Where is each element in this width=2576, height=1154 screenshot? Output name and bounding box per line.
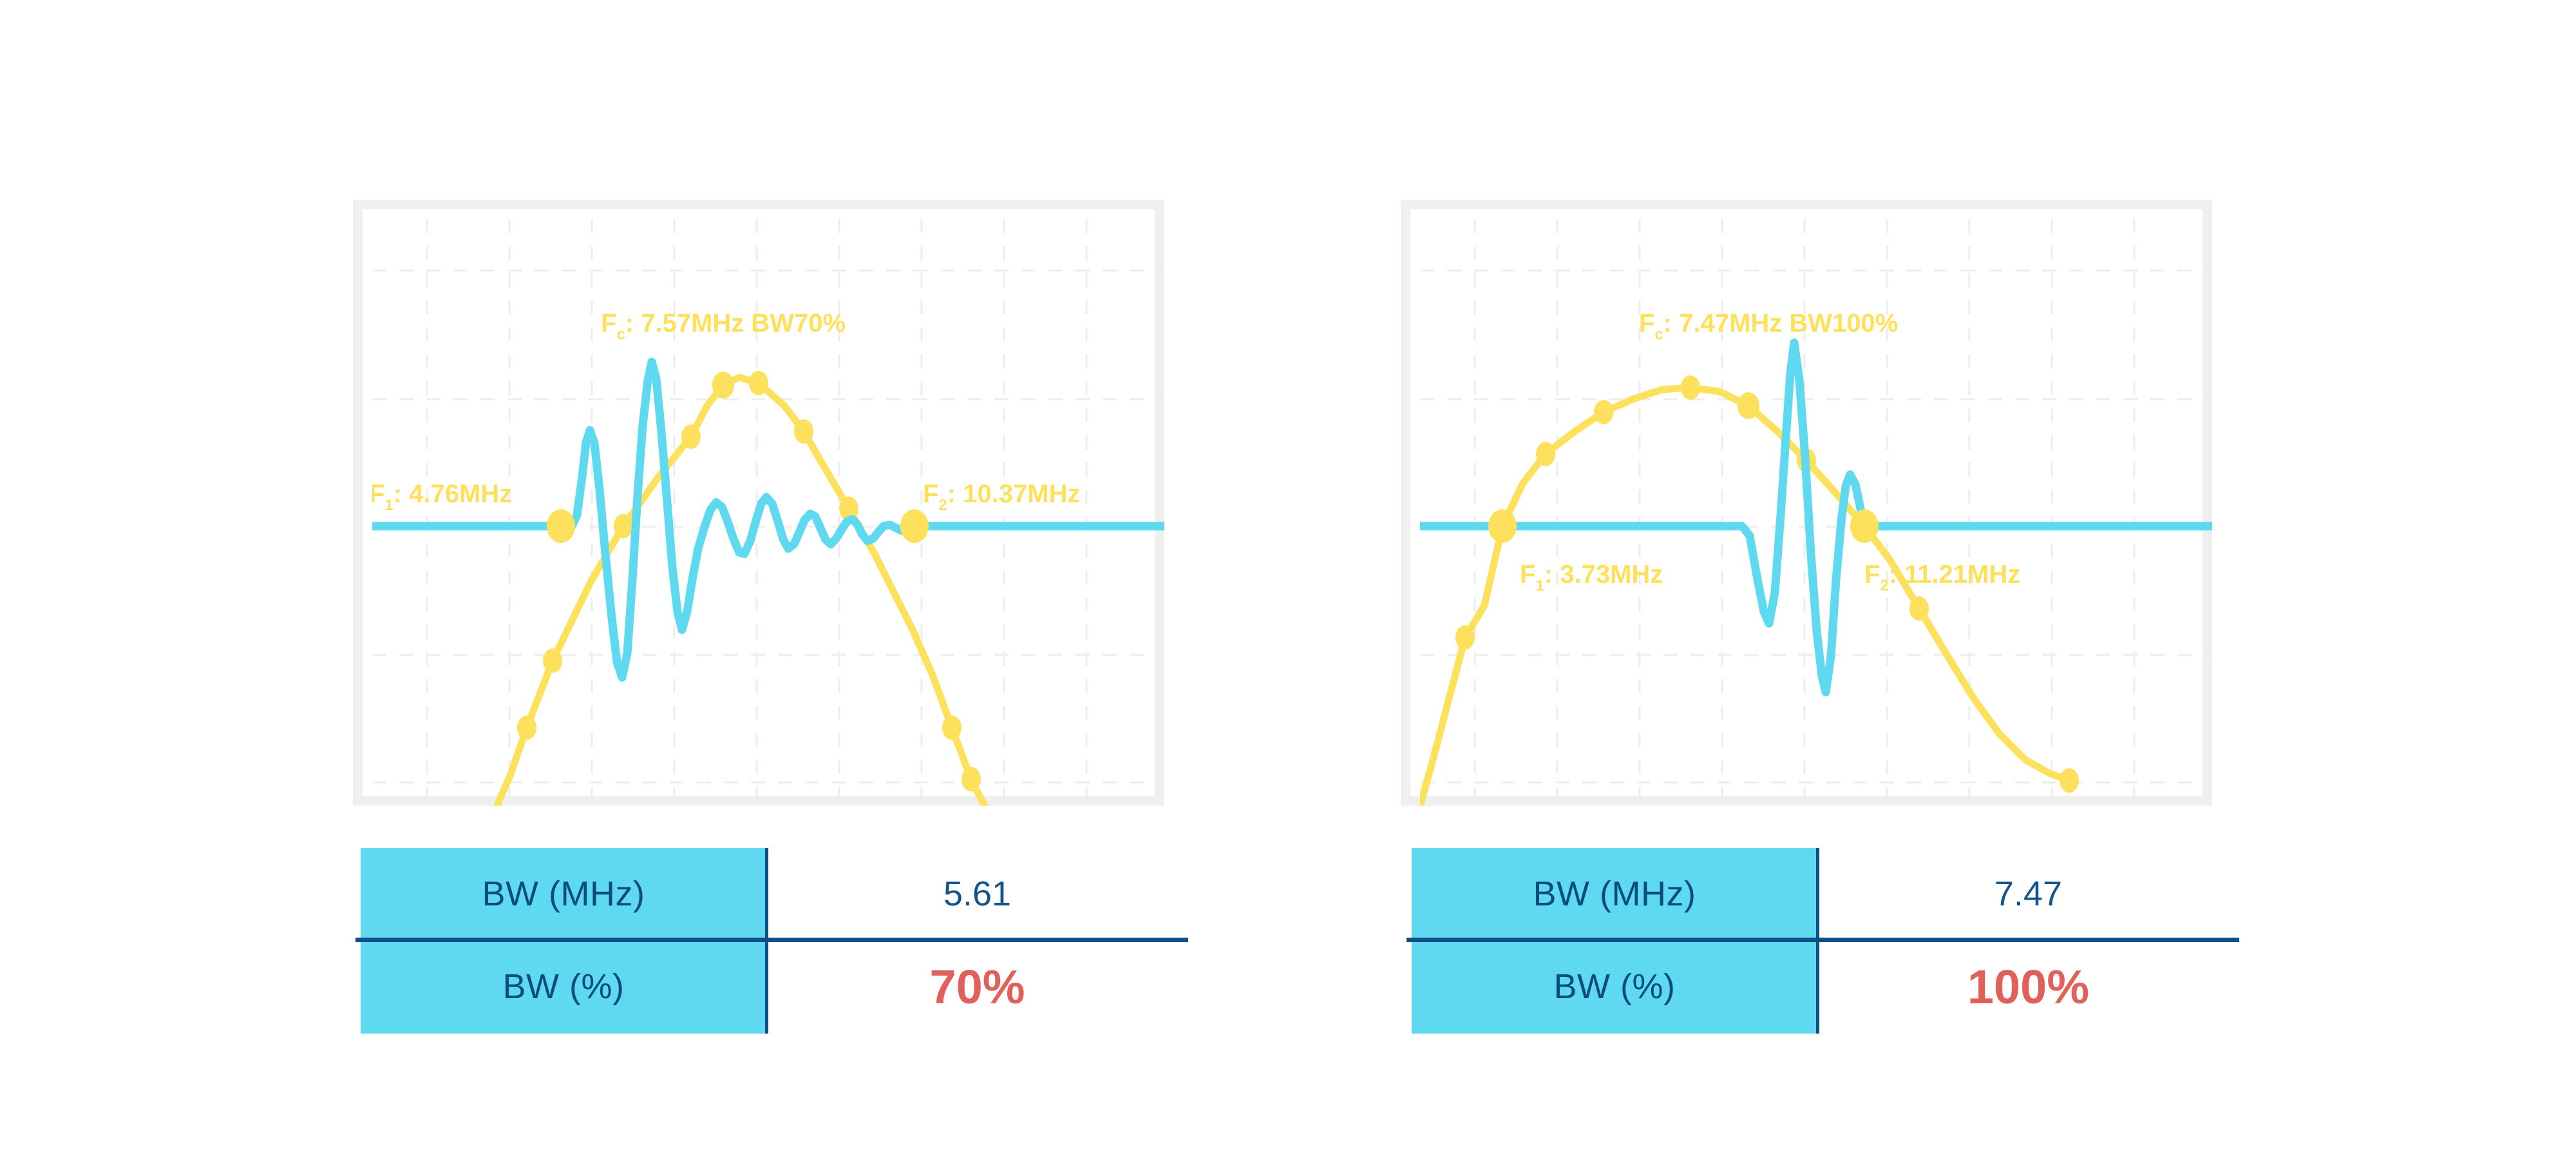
right-pulse-waveform <box>1420 343 2212 692</box>
left-fc-prefix: F <box>601 309 616 337</box>
right-row1-value: 100% <box>1817 940 2239 1034</box>
right-f1-prefix: F <box>1520 560 1535 589</box>
left-row0-label-text: BW (MHz) <box>482 874 645 914</box>
right-row1-value-text: 100% <box>1967 960 2089 1014</box>
right-row0-label: BW (MHz) <box>1412 848 1817 940</box>
left-pulse-waveform <box>372 362 1164 677</box>
right-f1-marker <box>1488 509 1517 543</box>
left-row0-value: 5.61 <box>766 848 1188 940</box>
right-f2-rest: : 11.21MHz <box>1889 560 2021 589</box>
right-f2-annotation: F2: 11.21MHz <box>1864 560 2020 594</box>
left-f1-rest: : 4.76MHz <box>393 480 513 508</box>
right-f2-marker <box>1850 509 1879 543</box>
right-spectrum-curve <box>1420 388 2069 806</box>
table-row: BW (%) 70% <box>361 940 1188 1034</box>
right-table-column-divider <box>1816 848 1819 1034</box>
left-row1-label-text: BW (%) <box>503 967 625 1007</box>
left-f1-annotation: F1: 4.76MHz <box>372 480 512 514</box>
right-row0-label-text: BW (MHz) <box>1533 874 1696 914</box>
left-fc-rest: : 7.57MHz BW70% <box>625 309 846 337</box>
left-f1-prefix: F <box>372 480 384 508</box>
right-table-divider <box>1406 938 2239 942</box>
left-table-column-divider <box>765 848 768 1034</box>
left-row0-value-text: 5.61 <box>943 874 1011 914</box>
left-spectrum-curve <box>495 377 990 806</box>
right-grid <box>1420 219 2212 806</box>
left-bw-table: BW (MHz) 5.61 BW (%) 70% <box>361 848 1188 1034</box>
table-row: BW (%) 100% <box>1412 940 2239 1034</box>
right-fc-annotation: Fc: 7.47MHz BW100% <box>1639 309 1898 343</box>
left-chart-frame: Fc: 7.57MHz BW70% F1: 4.76MHz F2: 10.37M… <box>353 200 1164 806</box>
left-fc-annotation: Fc: 7.57MHz BW70% <box>601 309 846 343</box>
right-row1-label-text: BW (%) <box>1554 967 1676 1007</box>
left-f1-sub: 1 <box>384 497 393 514</box>
right-bw-table: BW (MHz) 7.47 BW (%) 100% <box>1412 848 2239 1034</box>
right-chart-frame: Fc: 7.47MHz BW100% F1: 3.73MHz F2: 11.21… <box>1401 200 2212 806</box>
right-f1-rest: : 3.73MHz <box>1544 560 1663 589</box>
left-row1-label: BW (%) <box>361 940 766 1034</box>
right-f2-sub: 2 <box>1880 577 1888 594</box>
right-f1-annotation: F1: 3.73MHz <box>1520 560 1663 594</box>
right-f1-sub: 1 <box>1535 577 1544 594</box>
table-row: BW (MHz) 7.47 <box>1412 848 2239 940</box>
right-fc-rest: : 7.47MHz BW100% <box>1663 309 1899 337</box>
right-chart-plot: Fc: 7.47MHz BW100% F1: 3.73MHz F2: 11.21… <box>1420 219 2212 806</box>
left-f2-sub: 2 <box>938 497 947 514</box>
right-f2-prefix: F <box>1864 560 1880 589</box>
table-row: BW (MHz) 5.61 <box>361 848 1188 940</box>
right-fc-sub: c <box>1654 326 1663 343</box>
left-table-divider <box>355 938 1188 942</box>
left-f2-annotation: F2: 10.37MHz <box>923 480 1081 514</box>
left-row0-label: BW (MHz) <box>361 848 766 940</box>
right-row0-value-text: 7.47 <box>1994 874 2062 914</box>
left-row1-value-text: 70% <box>929 960 1025 1014</box>
right-row0-value: 7.47 <box>1817 848 2239 940</box>
left-f2-marker <box>900 509 929 543</box>
left-fc-sub: c <box>616 326 625 343</box>
left-f2-prefix: F <box>923 480 938 508</box>
left-chart-plot: Fc: 7.57MHz BW70% F1: 4.76MHz F2: 10.37M… <box>372 219 1164 806</box>
right-row1-label: BW (%) <box>1412 940 1817 1034</box>
right-fc-prefix: F <box>1639 309 1654 337</box>
left-grid <box>372 219 1164 806</box>
left-f1-marker <box>547 509 575 543</box>
left-row1-value: 70% <box>766 940 1188 1034</box>
left-f2-rest: : 10.37MHz <box>947 480 1081 508</box>
